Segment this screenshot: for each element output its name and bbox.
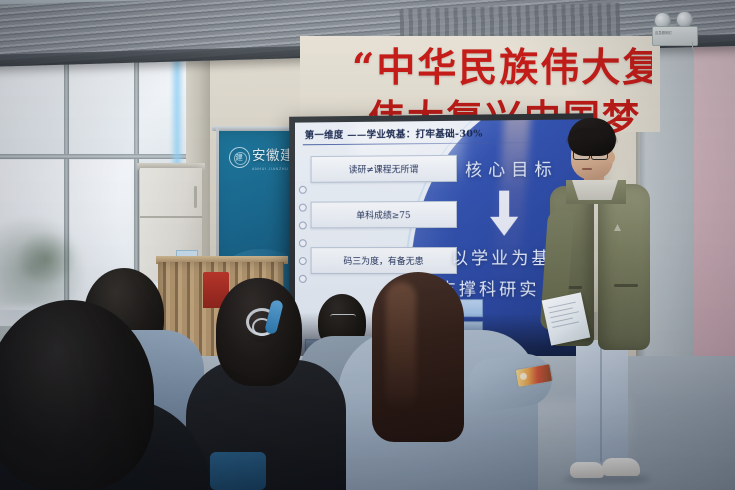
hair-highlight: [386, 282, 416, 412]
emergency-light-icon: 应急照明灯: [652, 10, 700, 44]
down-arrow-icon: [489, 191, 519, 237]
slide-bullet-marker: [299, 204, 307, 212]
emergency-light-label: 应急照明灯: [655, 31, 672, 35]
seal-glyph: 建: [235, 152, 243, 163]
classroom-photo-scene: “中华民族伟大复 伟大复兴中国梦 应急照明灯 建 安徽建筑大 ANHUI JIA…: [0, 0, 735, 490]
tree-silhouette: [16, 231, 76, 286]
presenter-ear: [608, 152, 615, 163]
banner-line-1: “中华民族伟大复: [352, 44, 652, 92]
cabinet-handle: [194, 186, 197, 208]
slide-bullet-marker: [299, 275, 307, 283]
classroom-chair: [210, 452, 266, 490]
slide-bullet-marker: [299, 257, 307, 265]
presenter-shoe: [602, 458, 640, 476]
jacket-pocket: [614, 284, 638, 287]
presenter-shoe: [570, 462, 604, 478]
presenter-shirt-collar: [572, 180, 618, 200]
cabinet-door-seam: [140, 216, 202, 218]
presenter: [540, 118, 660, 490]
slide-bullet-marker: [299, 221, 307, 229]
presenter-jacket-right: [598, 184, 650, 350]
trouser-seam: [600, 344, 602, 462]
slide-bullet-marker: [299, 186, 307, 194]
university-seal-icon: 建: [229, 147, 250, 168]
student-eyeglasses-icon: [330, 314, 356, 323]
presenter-trousers: [576, 340, 628, 466]
criteria-box: 码三为度，有备无患: [311, 247, 457, 274]
presenter-hand: [548, 314, 568, 332]
criteria-box: 读研≠课程无所谓: [311, 155, 457, 183]
presenter-hair-fringe: [566, 128, 618, 144]
slide-bullet-marker: [299, 239, 307, 247]
criteria-box: 单科成绩≥75: [311, 201, 457, 228]
